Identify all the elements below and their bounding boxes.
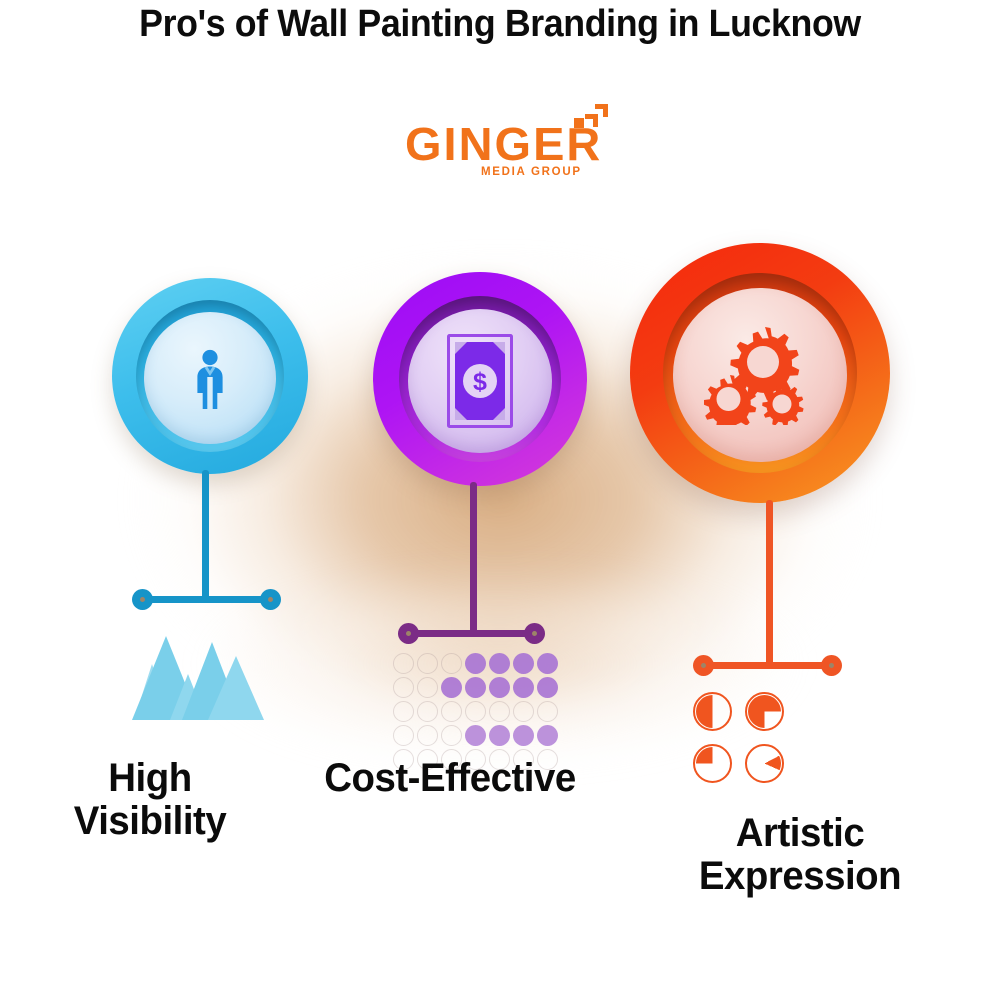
dot-filled (465, 725, 486, 746)
infographic-canvas: Pro's of Wall Painting Branding in Luckn… (0, 0, 1000, 1000)
dot-filled (465, 653, 486, 674)
stem-knob-left-orange (693, 655, 714, 676)
node-high-visibility[interactable] (112, 278, 308, 474)
stem-vertical-orange (766, 500, 773, 666)
dot-outline (441, 653, 462, 674)
stem-knob-left-blue (132, 589, 153, 610)
page-title: Pro's of Wall Painting Branding in Luckn… (30, 3, 970, 46)
node-artistic-expression[interactable] (630, 243, 890, 503)
brand-logo: GINGER MEDIA GROUP (405, 103, 605, 193)
dot-outline (465, 701, 486, 722)
label-cost-effective-line1: Cost-Effective (248, 757, 651, 800)
gears-cogs-icon (673, 288, 847, 462)
pie-slice (696, 747, 729, 780)
dot-filled (489, 725, 510, 746)
pie-slice (696, 695, 729, 728)
dot-outline (393, 701, 414, 722)
stem-knob-right-orange (821, 655, 842, 676)
label-artistic-expression-line1: Artistic (608, 812, 992, 855)
dot-matrix-decoration (393, 653, 558, 770)
label-cost-effective: Cost-Effective (248, 757, 651, 800)
dot-filled (513, 677, 534, 698)
dot-filled (441, 677, 462, 698)
nested-squares-arrow-icon (565, 103, 609, 141)
dot-outline (441, 701, 462, 722)
dot-filled (489, 653, 510, 674)
dot-outline (393, 653, 414, 674)
pie-chart-75 (745, 692, 784, 731)
dot-outline (393, 677, 414, 698)
dot-filled (537, 725, 558, 746)
dot-filled (489, 677, 510, 698)
stem-vertical-blue (202, 470, 209, 600)
dot-outline (537, 701, 558, 722)
connector-high-visibility (130, 470, 290, 610)
dot-outline (417, 653, 438, 674)
pie-charts-decoration (693, 692, 784, 783)
mountain-triangles-decoration (122, 628, 272, 720)
connector-cost-effective (396, 482, 556, 650)
stem-horizontal-purple (408, 630, 536, 637)
stem-knob-left-purple (398, 623, 419, 644)
dot-outline (441, 725, 462, 746)
dot-filled (537, 653, 558, 674)
dot-filled (537, 677, 558, 698)
banknote-dollar-icon: $ (408, 309, 552, 453)
label-high-visibility-line2: Visibility (6, 800, 294, 843)
label-artistic-expression-line2: Expression (608, 855, 992, 898)
dot-filled (513, 653, 534, 674)
pie-slice (748, 747, 781, 780)
pie-slice (748, 695, 781, 728)
dot-filled (513, 725, 534, 746)
dot-outline (417, 677, 438, 698)
stem-knob-right-blue (260, 589, 281, 610)
pie-chart-14 (745, 744, 784, 783)
stem-vertical-purple (470, 482, 477, 634)
pie-chart-25 (693, 744, 732, 783)
svg-text:$: $ (473, 368, 487, 396)
pie-chart-50 (693, 692, 732, 731)
stem-knob-right-purple (524, 623, 545, 644)
businessman-person-icon (144, 312, 276, 444)
purple-face: $ (408, 309, 552, 453)
dot-outline (513, 701, 534, 722)
blue-face (144, 312, 276, 444)
dot-outline (417, 725, 438, 746)
stem-horizontal-orange (703, 662, 833, 669)
dot-outline (393, 725, 414, 746)
dot-outline (489, 701, 510, 722)
connector-artistic-expression (690, 500, 850, 680)
node-cost-effective[interactable]: $ (373, 272, 587, 486)
dot-outline (417, 701, 438, 722)
stem-horizontal-blue (142, 596, 272, 603)
label-artistic-expression: Artistic Expression (608, 812, 992, 898)
logo-tagline: MEDIA GROUP (481, 166, 582, 178)
dot-filled (465, 677, 486, 698)
orange-face (673, 288, 847, 462)
